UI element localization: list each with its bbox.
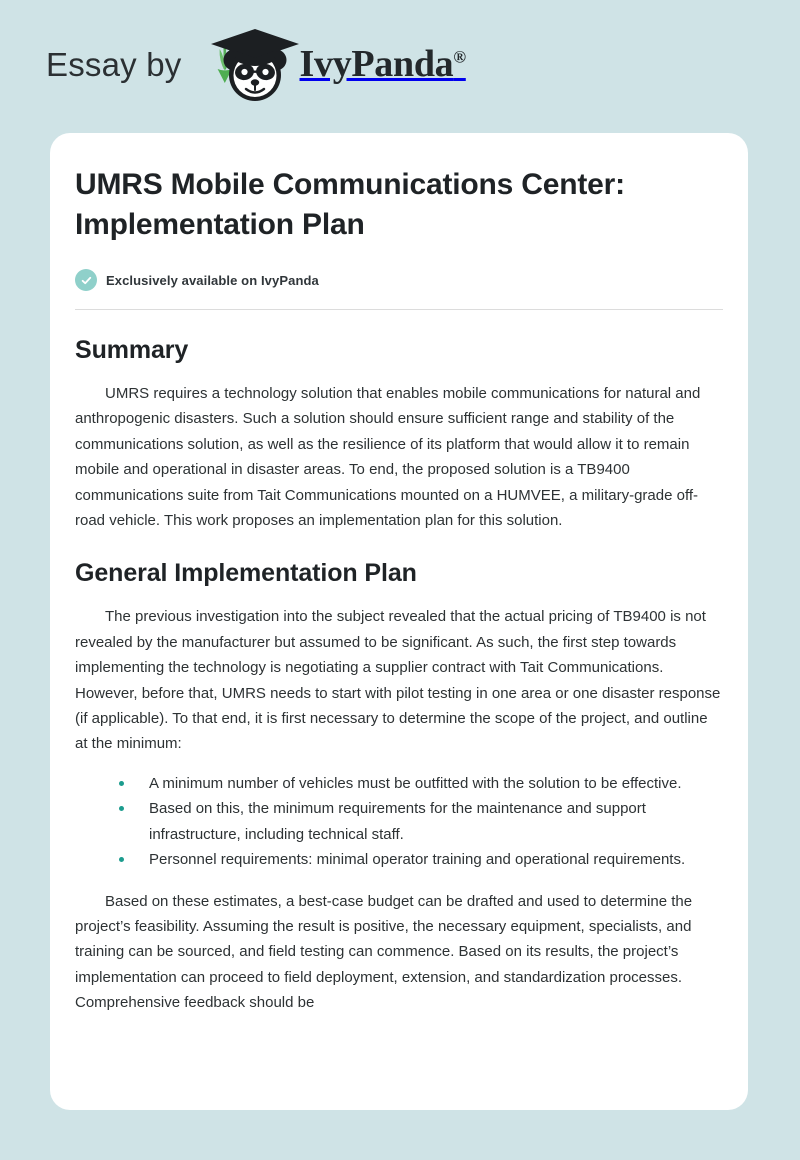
status-badge-label: Exclusively available on IvyPanda: [106, 273, 319, 288]
document-card: UMRS Mobile Communications Center: Imple…: [50, 133, 748, 1110]
title-divider: [75, 309, 723, 310]
site-header: Essay by: [0, 0, 800, 133]
section-heading-general-implementation-plan: General Implementation Plan: [75, 559, 723, 588]
ivypanda-logo-link[interactable]: IvyPanda®: [206, 27, 466, 107]
page-title: UMRS Mobile Communications Center: Imple…: [75, 133, 723, 245]
paragraph: UMRS requires a technology solution that…: [75, 381, 723, 533]
paragraph: Based on these estimates, a best-case bu…: [75, 889, 723, 1016]
requirements-list: A minimum number of vehicles must be out…: [75, 771, 723, 873]
list-item: Personnel requirements: minimal operator…: [117, 847, 723, 872]
panda-graduate-logo-icon: [206, 27, 304, 107]
essay-by-label: Essay by: [46, 48, 182, 85]
registered-mark: ®: [453, 47, 465, 66]
list-item: A minimum number of vehicles must be out…: [117, 771, 723, 796]
brand-name-text: IvyPanda: [300, 43, 454, 85]
paragraph: The previous investigation into the subj…: [75, 604, 723, 756]
list-item: Based on this, the minimum requirements …: [117, 796, 723, 847]
section-heading-summary: Summary: [75, 336, 723, 365]
status-badge: Exclusively available on IvyPanda: [75, 269, 723, 291]
brand-wordmark: IvyPanda®: [300, 45, 466, 83]
check-circle-icon: [75, 269, 97, 291]
